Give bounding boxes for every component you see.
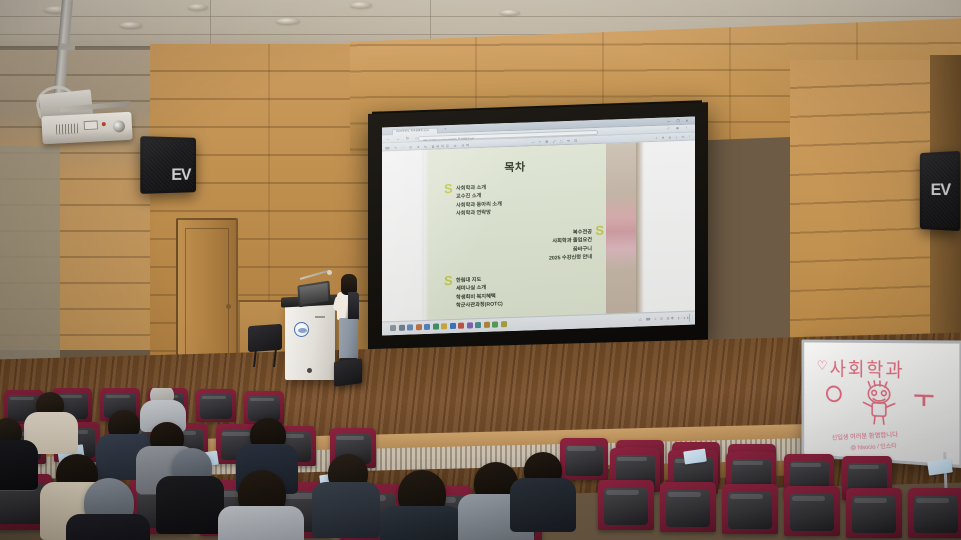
handout-paper[interactable] bbox=[927, 458, 953, 475]
browser-nav-buttons[interactable]: ← → ↻ ⌂ bbox=[386, 136, 420, 142]
taskbar-app-icons[interactable] bbox=[390, 321, 507, 331]
wall-speaker-left: EV bbox=[140, 136, 196, 194]
slide-item: 2025 수강신청 안내 bbox=[549, 253, 592, 263]
auditorium-seat[interactable] bbox=[660, 482, 716, 532]
slide-marker-icon: S bbox=[444, 275, 453, 286]
address-bar-icons[interactable]: ☆ ⊕ ⋮ bbox=[667, 126, 691, 131]
audience-member-body bbox=[218, 506, 304, 540]
auditorium-seat[interactable] bbox=[196, 389, 236, 422]
taskbar-app-icon[interactable] bbox=[424, 324, 430, 330]
audience-member-body bbox=[66, 514, 150, 540]
wall-speaker-right: EV bbox=[920, 151, 960, 231]
taskbar-app-icon[interactable] bbox=[458, 323, 464, 329]
audience-member-body bbox=[156, 476, 224, 534]
presenter-legs bbox=[339, 318, 358, 360]
taskbar-app-icon[interactable] bbox=[492, 321, 498, 327]
microphone-head-icon bbox=[327, 270, 332, 275]
taskbar-app-icon[interactable] bbox=[501, 321, 507, 327]
screen-reflection bbox=[606, 143, 636, 314]
ceiling-light bbox=[500, 10, 520, 15]
stage-chair-legs bbox=[253, 349, 277, 367]
university-emblem-icon bbox=[294, 322, 309, 337]
new-tab-button[interactable]: + bbox=[444, 127, 446, 131]
ceiling-light bbox=[188, 4, 208, 10]
slide-title: 목차 bbox=[424, 156, 606, 178]
audience-member-body bbox=[0, 440, 38, 490]
stage-monitor-speaker bbox=[334, 358, 362, 386]
slide-group-1: S 사회학과 소개 교수진 소개 사회학과 동아리 소개 사회학과 연락망 bbox=[444, 183, 502, 219]
auditorium-seat[interactable] bbox=[784, 486, 840, 536]
projector-lens-icon bbox=[113, 120, 126, 133]
lectern-slot bbox=[315, 316, 325, 318]
taskbar-app-icon[interactable] bbox=[467, 322, 473, 328]
stage-chair[interactable] bbox=[248, 324, 282, 352]
window-controls[interactable]: — ❐ ✕ bbox=[667, 118, 691, 123]
slide-item: 사회학과 연락망 bbox=[456, 208, 502, 218]
projector-power-led-icon bbox=[102, 122, 106, 126]
projection-screen-surface: 2025학년도 학과설명회.pptx + — ❐ ✕ ← → ↻ ⌂ https… bbox=[382, 117, 695, 336]
projector-label bbox=[84, 120, 98, 130]
auditorium-seat[interactable] bbox=[560, 438, 608, 480]
slide-group-2: S 복수전공 사회학과 졸업요건 꿈바구니 2025 수강신청 안내 bbox=[549, 228, 594, 263]
door-knob-icon[interactable] bbox=[226, 304, 231, 309]
lectern bbox=[285, 302, 335, 380]
auditorium-seat[interactable] bbox=[722, 484, 778, 534]
toolbar-zoom-tools[interactable]: ─ + ⊞ ⤢ ⛶ ⟲ ⊡ bbox=[532, 138, 579, 144]
audience-member-body bbox=[380, 506, 462, 540]
ceiling-light bbox=[350, 2, 372, 8]
taskbar-app-icon[interactable] bbox=[433, 323, 439, 329]
speaker-brand-logo: EV bbox=[171, 165, 190, 185]
audience-member-body bbox=[312, 482, 380, 538]
auditorium-seat[interactable] bbox=[846, 488, 902, 538]
wall-panel-band bbox=[0, 146, 60, 386]
slide-item: 학군사관과정(ROTC) bbox=[456, 300, 503, 310]
projector-vent-icon bbox=[56, 123, 78, 134]
toolbar-right-tools[interactable]: ⌕ ⊕ ⊟ ⇣ ✎ ⋮ bbox=[656, 134, 692, 139]
screen-reflection-edge bbox=[636, 142, 644, 312]
taskbar-app-icon[interactable] bbox=[399, 325, 405, 331]
presentation-slide: 목차 S 사회학과 소개 교수진 소개 사회학과 동아리 소개 사회학과 연락망… bbox=[424, 144, 606, 320]
ceiling-projector bbox=[41, 112, 132, 145]
ceiling-light bbox=[120, 22, 142, 28]
slide-left-edge bbox=[424, 150, 429, 320]
auditorium-scene: EV EV 2025학년도 학과설명회.pptx + — ❐ ✕ ← → ↻ ⌂… bbox=[0, 0, 961, 540]
heart-icon: ♡ bbox=[817, 358, 828, 374]
lectern-button[interactable] bbox=[307, 368, 312, 373]
show-desktop-button[interactable] bbox=[689, 314, 693, 322]
ceiling-light bbox=[276, 18, 300, 24]
projector-pole-collar bbox=[60, 43, 75, 50]
slide-viewport: 목차 S 사회학과 소개 교수진 소개 사회학과 동아리 소개 사회학과 연락망… bbox=[382, 141, 695, 322]
taskbar-app-icon[interactable] bbox=[407, 324, 413, 330]
audience-member-body bbox=[510, 478, 576, 532]
taskbar-system-tray[interactable]: △ ⌨ ⌾ ⏻ 오후 2:13 bbox=[639, 316, 690, 322]
audience-seating bbox=[0, 388, 961, 540]
taskbar-app-icon[interactable] bbox=[484, 322, 490, 328]
slide-group-3: S 한림대 지도 세미나실 소개 학생회비 복지혜택 학군사관과정(ROTC) bbox=[444, 275, 503, 311]
presenter-vest bbox=[348, 292, 359, 319]
taskbar-app-icon[interactable] bbox=[450, 323, 456, 329]
auditorium-seat[interactable] bbox=[598, 480, 654, 530]
slide-marker-icon: S bbox=[444, 183, 453, 194]
taskbar-app-icon[interactable] bbox=[416, 324, 422, 330]
slide-marker-icon: S bbox=[595, 225, 604, 236]
taskbar-app-icon[interactable] bbox=[390, 325, 396, 331]
auditorium-seat[interactable] bbox=[908, 488, 961, 538]
taskbar-app-icon[interactable] bbox=[475, 322, 481, 328]
door-panel bbox=[185, 228, 229, 368]
speaker-brand-logo: EV bbox=[931, 180, 950, 200]
taskbar-app-icon[interactable] bbox=[441, 323, 447, 329]
